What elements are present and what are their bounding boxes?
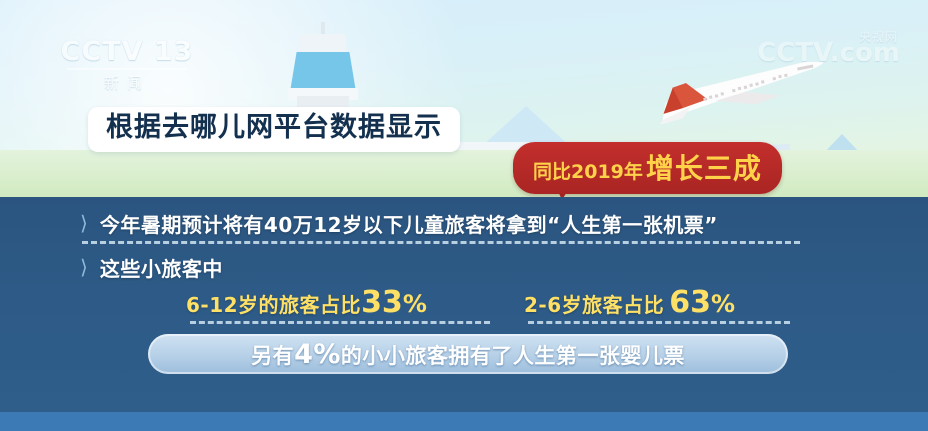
- footer-unit: %: [313, 339, 341, 370]
- bullet-row-1-text: 今年暑期预计将有40万12岁以下儿童旅客将拿到“人生第一张机票”: [100, 213, 718, 237]
- bullet-row-1: ⟩ 今年暑期预计将有40万12岁以下儿童旅客将拿到“人生第一张机票”: [80, 209, 718, 238]
- cctv13-logo-subtitle: 新闻: [52, 72, 202, 93]
- divider-dashed-1: [82, 241, 800, 244]
- stat-2-6-unit: %: [711, 290, 735, 318]
- cctv-com-watermark: 央视网 CCTV.com: [757, 38, 900, 68]
- broadcast-graphic: CCTV 13 新闻 央视网 CCTV.com 根据去哪儿网平台数据显示 同比2…: [0, 0, 928, 431]
- cctv13-logo: CCTV 13 新闻: [52, 36, 202, 92]
- stat-2-6-label: 2-6岁旅客占比: [524, 293, 664, 317]
- stat-6-12: 6-12岁的旅客占比33%: [186, 285, 427, 320]
- growth-badge: 同比2019年 增长三成: [513, 142, 782, 194]
- footer-band: [0, 412, 928, 431]
- flying-airplane: [645, 62, 845, 124]
- terminal-roof-peak: [482, 106, 570, 146]
- tower-cabin: [290, 52, 356, 92]
- footer-prefix: 另有: [251, 344, 294, 368]
- tower-cap: [300, 34, 346, 54]
- bullet-row-2: ⟩ 这些小旅客中: [80, 253, 223, 282]
- stat-6-12-value: 33: [361, 285, 403, 320]
- bullet-row-2-text: 这些小旅客中: [100, 257, 223, 281]
- divider-dashed-2: [190, 321, 490, 324]
- stat-2-6: 2-6岁旅客占比 63%: [524, 285, 735, 320]
- stat-6-12-unit: %: [403, 290, 427, 318]
- divider-dashed-3: [528, 321, 790, 324]
- chevron-right-icon: ⟩: [80, 211, 88, 235]
- cctv13-logo-text: CCTV 13: [52, 36, 202, 67]
- footer-highlight-bar: 另有4%的小小旅客拥有了人生第一张婴儿票: [148, 334, 788, 374]
- watermark-cn-text: 央视网: [859, 28, 898, 45]
- chevron-right-icon: ⟩: [80, 255, 88, 279]
- badge-main-text: 增长三成: [646, 147, 762, 187]
- stat-6-12-label: 6-12岁的旅客占比: [186, 293, 361, 317]
- sky-background: [0, 0, 928, 200]
- cctv13-logo-rule: [67, 68, 187, 70]
- headline-card: 根据去哪儿网平台数据显示: [88, 107, 460, 152]
- ground-strip: [0, 150, 928, 200]
- footer-value: 4: [294, 339, 313, 370]
- stat-2-6-value: 63: [669, 285, 711, 320]
- footer-highlight-text: 另有4%的小小旅客拥有了人生第一张婴儿票: [251, 339, 685, 370]
- headline-text: 根据去哪儿网平台数据显示: [106, 113, 442, 143]
- badge-prefix-text: 同比2019年: [533, 157, 643, 184]
- info-panel: ⟩ 今年暑期预计将有40万12岁以下儿童旅客将拿到“人生第一张机票” ⟩ 这些小…: [0, 197, 928, 412]
- footer-suffix: 的小小旅客拥有了人生第一张婴儿票: [341, 344, 685, 368]
